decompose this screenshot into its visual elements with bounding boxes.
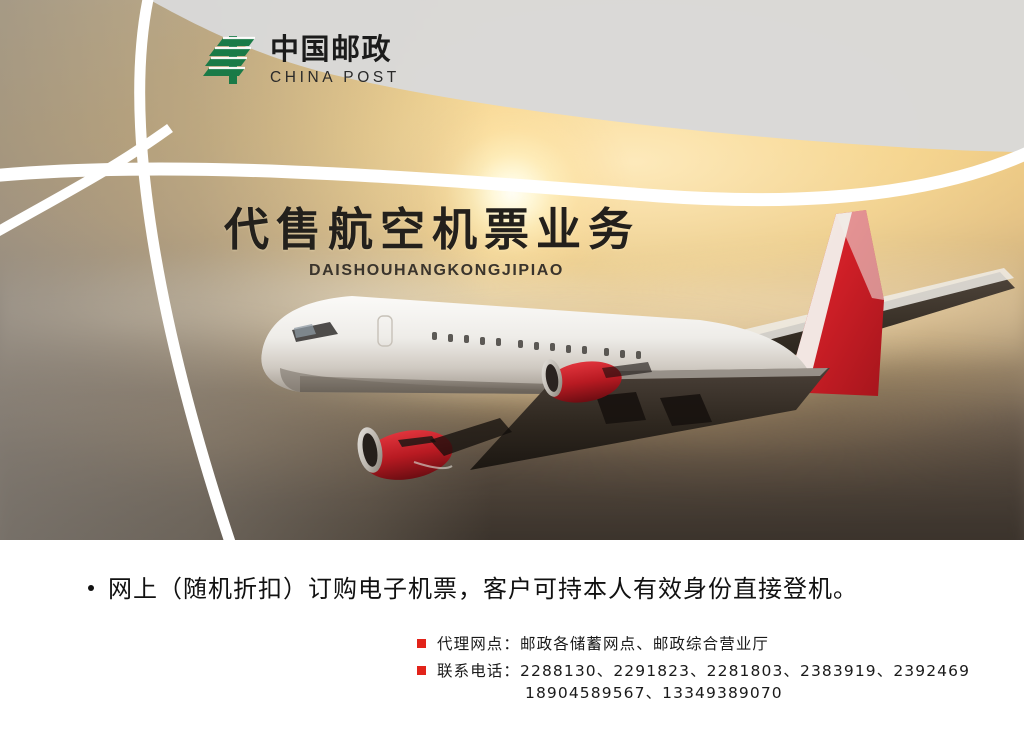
- red-square-bullet-icon: [417, 639, 426, 648]
- round-bullet-icon: [88, 585, 94, 591]
- china-post-logo-mark: [203, 34, 259, 86]
- logo-wordmark: 中国邮政 CHINA POST: [270, 35, 400, 86]
- poster-canvas: 中国邮政 CHINA POST 代售航空机票业务 DAISHOUHANGKONG…: [0, 0, 1024, 729]
- china-post-logo: 中国邮政 CHINA POST: [203, 34, 400, 86]
- page-title-pinyin: DAISHOUHANGKONGJIPIAO: [309, 262, 640, 280]
- contact-block: 代理网点：邮政各储蓄网点、邮政综合营业厅 联系电话：2288130、229182…: [417, 633, 970, 709]
- contact-row-agency: 代理网点：邮政各储蓄网点、邮政综合营业厅: [417, 633, 970, 655]
- contact-agency-value: 邮政各储蓄网点、邮政综合营业厅: [520, 635, 769, 653]
- headline-block: 代售航空机票业务 DAISHOUHANGKONGJIPIAO: [224, 206, 640, 280]
- contact-phone-value-cont: 18904589567、13349389070: [437, 682, 970, 704]
- logo-name-cn: 中国邮政: [270, 35, 400, 64]
- page-title: 代售航空机票业务: [224, 206, 640, 255]
- contact-agency-label: 代理网点：: [437, 635, 520, 653]
- contact-phone-value: 2288130、2291823、2281803、2383919、2392469: [520, 662, 970, 680]
- red-square-bullet-icon: [417, 666, 426, 675]
- highlight-bullet-text: 网上（随机折扣）订购电子机票，客户可持本人有效身份直接登机。: [108, 569, 858, 604]
- contact-row-phone: 联系电话：2288130、2291823、2281803、2383919、239…: [417, 660, 970, 704]
- info-panel: 网上（随机折扣）订购电子机票，客户可持本人有效身份直接登机。 代理网点：邮政各储…: [0, 540, 1024, 729]
- hero-photo: 中国邮政 CHINA POST 代售航空机票业务 DAISHOUHANGKONG…: [0, 0, 1024, 540]
- contact-phone-text: 联系电话：2288130、2291823、2281803、2383919、239…: [437, 660, 970, 704]
- highlight-bullet: 网上（随机折扣）订购电子机票，客户可持本人有效身份直接登机。: [88, 569, 858, 604]
- contact-phone-label: 联系电话：: [437, 662, 520, 680]
- contact-agency-text: 代理网点：邮政各储蓄网点、邮政综合营业厅: [437, 633, 769, 655]
- logo-name-en: CHINA POST: [270, 70, 400, 86]
